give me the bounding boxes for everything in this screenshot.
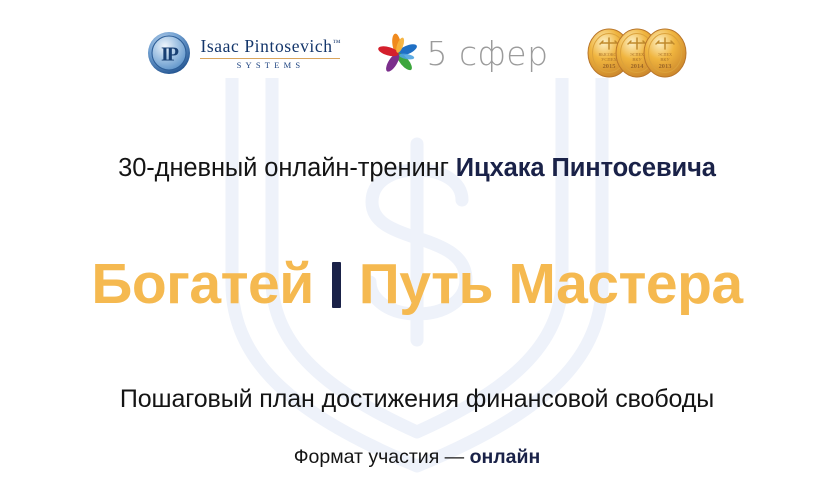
gold-medal-icon: ЭСПЕХ ВКУ 2013 <box>643 28 687 78</box>
title-part-right: Путь Мастера <box>359 256 743 313</box>
trademark-symbol: ™ <box>333 38 341 47</box>
logo-divider-rule <box>200 58 340 59</box>
svg-text:IP: IP <box>161 44 179 66</box>
partner-logo-strip: IP Isaac Pintosevich™ SYSTEMS <box>0 22 834 84</box>
participation-format-line: Формат участия — онлайн <box>0 447 834 468</box>
promo-slide: IP Isaac Pintosevich™ SYSTEMS <box>0 0 834 492</box>
svg-text:2015: 2015 <box>602 63 615 70</box>
format-value-online: онлайн <box>470 446 541 468</box>
title-part-left: Богатей <box>91 256 313 313</box>
svg-text:ВКУ: ВКУ <box>660 57 670 62</box>
title-divider-bar <box>332 262 341 308</box>
kicker-regular-text: 30-дневный онлайн-тренинг <box>118 154 456 182</box>
course-kicker-line: 30-дневный онлайн-тренинг Ицхака Пинтосе… <box>0 154 834 182</box>
subtitle: Пошаговый план достижения финансовой сво… <box>0 386 834 414</box>
format-regular-text: Формат участия — <box>294 446 470 468</box>
logo-wordmark: Isaac Pintosevich™ SYSTEMS <box>200 37 340 70</box>
svg-text:2013: 2013 <box>658 63 671 70</box>
logo-isaac-pintosevich-systems: IP Isaac Pintosevich™ SYSTEMS <box>147 31 340 75</box>
kicker-author-name: Ицхака Пинтосевича <box>456 154 716 182</box>
logo-company-subtitle: SYSTEMS <box>200 61 340 70</box>
svg-text:ВКУ: ВКУ <box>632 57 642 62</box>
award-medals-group: ВЫСОКОЙ УСПЕХ 2015 ЭСПЕХ ВКУ 2014 ЭСПЕХ … <box>587 28 687 78</box>
page-title: Богатей Путь Мастера <box>0 256 834 313</box>
logo-company-name: Isaac Pintosevich™ <box>200 38 340 56</box>
five-petal-flower-icon <box>378 33 418 73</box>
logo-five-spheres-text: 5 сфер <box>426 37 548 70</box>
logo-five-spheres: 5 сфер <box>378 33 548 73</box>
ip-monogram-seal-icon: IP <box>147 31 191 75</box>
